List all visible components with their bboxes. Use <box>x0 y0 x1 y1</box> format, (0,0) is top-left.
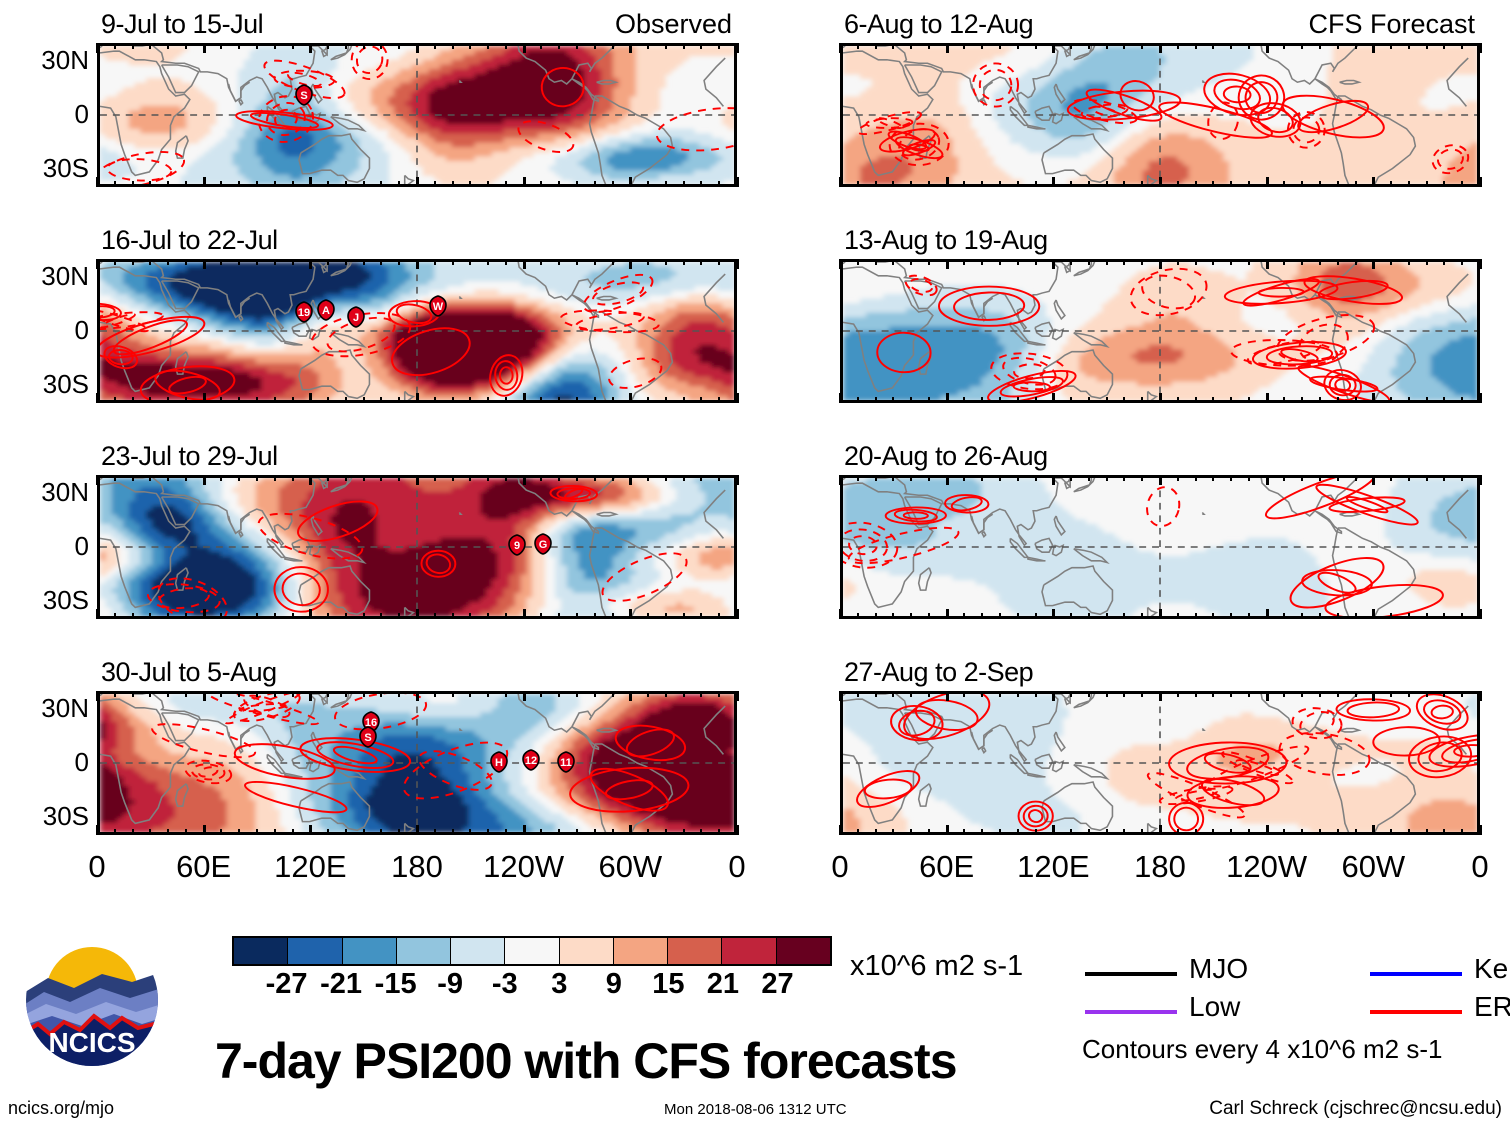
map-field <box>100 262 734 400</box>
axis-tick <box>736 475 739 485</box>
axis-tick <box>875 43 877 49</box>
axis-tick <box>647 691 649 697</box>
axis-tick <box>1355 475 1357 481</box>
storm-marker: J <box>345 306 367 328</box>
axis-tick <box>114 259 116 265</box>
axis-tick <box>292 613 294 619</box>
axis-tick <box>1212 691 1214 697</box>
axis-tick <box>1301 691 1303 697</box>
axis-tick <box>1017 43 1019 49</box>
axis-tick <box>345 43 347 49</box>
axis-tick <box>839 43 842 53</box>
axis-tick <box>256 829 258 835</box>
axis-tick <box>963 181 965 187</box>
panel-title-8: 27-Aug to 2-Sep <box>844 657 1033 688</box>
colorbar-bin-6 <box>560 938 614 964</box>
colorbar-bin-0 <box>234 938 288 964</box>
axis-tick <box>1443 829 1445 835</box>
axis-tick <box>1123 613 1125 619</box>
axis-tick <box>327 613 329 619</box>
axis-tick <box>220 829 222 835</box>
axis-tick <box>576 691 578 697</box>
axis-tick <box>114 829 116 835</box>
x-tick-label: 180 <box>1100 849 1220 885</box>
axis-tick <box>963 43 965 49</box>
axis-tick <box>380 475 382 481</box>
axis-tick <box>1479 825 1482 835</box>
colorbar-bin-7 <box>614 938 668 964</box>
axis-tick <box>1212 181 1214 187</box>
axis-tick <box>1088 181 1090 187</box>
map-panel-2: 19 A J W <box>97 259 737 403</box>
axis-tick <box>1141 43 1143 49</box>
axis-tick <box>238 829 240 835</box>
axis-tick <box>167 397 169 403</box>
contour-interval-note: Contours every 4 x10^6 m2 s-1 <box>1082 1034 1442 1065</box>
axis-tick <box>981 475 983 481</box>
axis-tick <box>114 397 116 403</box>
axis-tick <box>700 829 702 835</box>
axis-tick <box>1461 475 1463 481</box>
axis-tick <box>946 825 949 835</box>
map-field <box>843 262 1477 400</box>
axis-tick <box>1088 43 1090 49</box>
axis-tick <box>1337 181 1339 187</box>
axis-tick <box>594 397 596 403</box>
axis-tick <box>220 691 222 697</box>
axis-tick <box>1035 43 1037 49</box>
axis-tick <box>1070 397 1072 403</box>
axis-tick <box>149 475 151 481</box>
axis-tick <box>1123 397 1125 403</box>
axis-tick <box>1283 613 1285 619</box>
axis-tick <box>594 43 596 49</box>
axis-tick <box>96 825 99 835</box>
axis-tick <box>1052 609 1055 619</box>
axis-tick <box>256 43 258 49</box>
axis-tick <box>1408 829 1410 835</box>
axis-tick <box>292 475 294 481</box>
axis-tick <box>1035 613 1037 619</box>
axis-tick <box>505 829 507 835</box>
colorbar-bin-1 <box>288 938 342 964</box>
axis-tick <box>999 613 1001 619</box>
axis-tick <box>857 397 859 403</box>
axis-tick <box>700 613 702 619</box>
axis-tick <box>700 181 702 187</box>
axis-tick <box>1301 829 1303 835</box>
axis-tick <box>718 475 720 481</box>
axis-tick <box>1177 475 1179 481</box>
axis-tick <box>238 397 240 403</box>
axis-tick <box>1141 691 1143 697</box>
axis-tick <box>309 393 312 403</box>
footer-right: Carl Schreck (cjschrec@ncsu.edu) <box>1209 1098 1502 1120</box>
axis-tick <box>1212 829 1214 835</box>
axis-tick <box>839 609 842 619</box>
axis-tick <box>1177 691 1179 697</box>
axis-tick <box>1426 43 1428 49</box>
axis-tick <box>256 259 258 265</box>
axis-tick <box>910 397 912 403</box>
axis-tick <box>1372 43 1375 53</box>
axis-tick <box>612 259 614 265</box>
axis-tick <box>1177 43 1179 49</box>
y-tick-label: 0 <box>5 747 89 778</box>
axis-tick <box>523 259 526 269</box>
axis-tick <box>700 691 702 697</box>
axis-tick <box>434 43 436 49</box>
axis-tick <box>981 829 983 835</box>
axis-tick <box>167 691 169 697</box>
panel-title-3: 23-Jul to 29-Jul <box>101 441 278 472</box>
storm-marker: W <box>427 295 449 317</box>
storm-marker: 19 <box>293 301 315 323</box>
axis-tick <box>1088 829 1090 835</box>
axis-tick <box>1070 475 1072 481</box>
x-tick-label: 60W <box>570 849 690 885</box>
axis-tick <box>736 691 739 701</box>
axis-tick <box>1230 259 1232 265</box>
axis-tick <box>309 259 312 269</box>
axis-tick <box>149 397 151 403</box>
axis-tick <box>1035 181 1037 187</box>
axis-tick <box>629 691 632 701</box>
axis-tick <box>1301 613 1303 619</box>
x-tick-label: 0 <box>677 849 797 885</box>
axis-tick <box>540 43 542 49</box>
axis-tick <box>185 43 187 49</box>
axis-tick <box>1141 259 1143 265</box>
axis-tick <box>999 259 1001 265</box>
axis-tick <box>892 691 894 697</box>
axis-tick <box>416 825 419 835</box>
axis-tick <box>736 393 739 403</box>
axis-tick <box>1177 397 1179 403</box>
axis-tick <box>1052 475 1055 485</box>
axis-tick <box>1266 177 1269 187</box>
colorbar-bin-3 <box>397 938 451 964</box>
axis-tick <box>1088 613 1090 619</box>
axis-tick <box>629 177 632 187</box>
footer-left[interactable]: ncics.org/mjo <box>8 1098 114 1119</box>
y-tick-label: 30S <box>5 801 89 832</box>
axis-tick <box>1088 397 1090 403</box>
axis-tick <box>1212 43 1214 49</box>
axis-tick <box>910 613 912 619</box>
axis-tick <box>416 475 419 485</box>
legend-line-kelvin-x2 <box>1370 972 1462 976</box>
axis-tick <box>398 691 400 697</box>
axis-tick <box>1426 613 1428 619</box>
axis-tick <box>220 613 222 619</box>
panel-title-7: 20-Aug to 26-Aug <box>844 441 1048 472</box>
axis-tick <box>505 43 507 49</box>
axis-tick <box>576 829 578 835</box>
axis-tick <box>963 829 965 835</box>
axis-tick <box>398 613 400 619</box>
axis-tick <box>736 609 739 619</box>
axis-tick <box>505 181 507 187</box>
axis-tick <box>558 829 560 835</box>
axis-tick <box>114 181 116 187</box>
axis-tick <box>363 181 365 187</box>
axis-tick <box>981 397 983 403</box>
axis-tick <box>1106 829 1108 835</box>
legend-line-er <box>1370 1010 1462 1014</box>
axis-tick <box>1408 613 1410 619</box>
x-tick-label: 120W <box>464 849 584 885</box>
map-field <box>100 478 734 616</box>
axis-tick <box>665 475 667 481</box>
axis-tick <box>839 825 842 835</box>
axis-tick <box>1408 43 1410 49</box>
axis-tick <box>665 691 667 697</box>
axis-tick <box>1195 181 1197 187</box>
axis-tick <box>1159 393 1162 403</box>
axis-tick <box>452 613 454 619</box>
axis-tick <box>1372 609 1375 619</box>
axis-tick <box>434 475 436 481</box>
axis-tick <box>1355 829 1357 835</box>
axis-tick <box>380 259 382 265</box>
axis-tick <box>434 397 436 403</box>
axis-tick <box>327 691 329 697</box>
axis-tick <box>629 259 632 269</box>
axis-tick <box>1177 613 1179 619</box>
axis-tick <box>1461 397 1463 403</box>
axis-tick <box>665 397 667 403</box>
storm-marker: A <box>315 299 337 321</box>
axis-tick <box>1461 43 1463 49</box>
axis-tick <box>839 177 842 187</box>
map-field <box>843 478 1477 616</box>
axis-tick <box>1159 825 1162 835</box>
axis-tick <box>629 609 632 619</box>
axis-tick <box>1372 825 1375 835</box>
axis-tick <box>700 259 702 265</box>
axis-tick <box>487 43 489 49</box>
axis-tick <box>558 259 560 265</box>
axis-tick <box>398 259 400 265</box>
y-tick-label: 0 <box>5 315 89 346</box>
axis-tick <box>203 691 206 701</box>
axis-tick <box>665 259 667 265</box>
axis-tick <box>1212 475 1214 481</box>
axis-tick <box>629 393 632 403</box>
axis-tick <box>718 691 720 697</box>
axis-tick <box>132 613 134 619</box>
axis-tick <box>946 393 949 403</box>
axis-tick <box>576 181 578 187</box>
axis-tick <box>363 397 365 403</box>
axis-tick <box>1319 259 1321 265</box>
axis-tick <box>1266 609 1269 619</box>
axis-tick <box>203 825 206 835</box>
axis-tick <box>220 181 222 187</box>
axis-tick <box>292 829 294 835</box>
axis-tick <box>149 43 151 49</box>
axis-tick <box>1266 393 1269 403</box>
colorbar-bin-8 <box>668 938 722 964</box>
axis-tick <box>594 613 596 619</box>
map-field <box>100 46 734 184</box>
axis-tick <box>1123 181 1125 187</box>
axis-tick <box>1372 475 1375 485</box>
page-title: 7-day PSI200 with CFS forecasts <box>215 1032 957 1090</box>
axis-tick <box>1426 259 1428 265</box>
axis-tick <box>981 691 983 697</box>
axis-tick <box>469 43 471 49</box>
axis-tick <box>434 613 436 619</box>
axis-tick <box>683 259 685 265</box>
axis-tick <box>963 691 965 697</box>
footer-timestamp: Mon 2018-08-06 1312 UTC <box>664 1101 847 1118</box>
axis-tick <box>114 43 116 49</box>
map-panel-4: 16 S H 12 11 <box>97 691 737 835</box>
axis-tick <box>1319 181 1321 187</box>
axis-tick <box>736 825 739 835</box>
axis-tick <box>256 397 258 403</box>
legend-line-low <box>1085 1010 1177 1014</box>
axis-tick <box>345 613 347 619</box>
axis-tick <box>238 475 240 481</box>
axis-tick <box>1390 43 1392 49</box>
axis-tick <box>1070 43 1072 49</box>
axis-tick <box>875 259 877 265</box>
axis-tick <box>910 829 912 835</box>
axis-tick <box>274 829 276 835</box>
axis-tick <box>1017 397 1019 403</box>
axis-tick <box>469 259 471 265</box>
axis-tick <box>523 609 526 619</box>
axis-tick <box>274 43 276 49</box>
panel-title-2: 16-Jul to 22-Jul <box>101 225 278 256</box>
axis-tick <box>892 613 894 619</box>
axis-tick <box>1195 259 1197 265</box>
axis-tick <box>612 829 614 835</box>
axis-tick <box>185 397 187 403</box>
axis-tick <box>981 613 983 619</box>
axis-tick <box>1355 691 1357 697</box>
axis-tick <box>540 259 542 265</box>
axis-tick <box>1301 475 1303 481</box>
axis-tick <box>1106 181 1108 187</box>
axis-tick <box>700 43 702 49</box>
axis-tick <box>1443 475 1445 481</box>
axis-tick <box>185 259 187 265</box>
axis-tick <box>928 475 930 481</box>
axis-tick <box>1248 259 1250 265</box>
axis-tick <box>594 181 596 187</box>
storm-marker: H <box>488 751 510 773</box>
axis-tick <box>114 475 116 481</box>
axis-tick <box>1052 43 1055 53</box>
y-tick-label: 0 <box>5 99 89 130</box>
axis-tick <box>1390 829 1392 835</box>
axis-tick <box>1070 613 1072 619</box>
axis-tick <box>910 259 912 265</box>
axis-tick <box>1461 829 1463 835</box>
axis-tick <box>203 393 206 403</box>
x-tick-label: 60E <box>887 849 1007 885</box>
axis-tick <box>167 475 169 481</box>
axis-tick <box>1337 613 1339 619</box>
axis-tick <box>718 397 720 403</box>
axis-tick <box>523 43 526 53</box>
map-panel-5 <box>840 43 1480 187</box>
axis-tick <box>523 393 526 403</box>
axis-tick <box>999 475 1001 481</box>
axis-tick <box>345 397 347 403</box>
axis-tick <box>363 259 365 265</box>
axis-tick <box>167 829 169 835</box>
axis-tick <box>999 691 1001 697</box>
axis-tick <box>1177 829 1179 835</box>
axis-tick <box>1248 829 1250 835</box>
axis-tick <box>452 829 454 835</box>
axis-tick <box>1248 475 1250 481</box>
axis-tick <box>1070 259 1072 265</box>
colorbar-bin-2 <box>343 938 397 964</box>
axis-tick <box>132 397 134 403</box>
axis-tick <box>1195 613 1197 619</box>
axis-tick <box>1408 181 1410 187</box>
axis-tick <box>558 613 560 619</box>
axis-tick <box>910 475 912 481</box>
axis-tick <box>1319 613 1321 619</box>
axis-tick <box>1035 691 1037 697</box>
axis-tick <box>910 43 912 49</box>
map-panel-3: 9 G <box>97 475 737 619</box>
axis-tick <box>398 475 400 481</box>
axis-tick <box>274 475 276 481</box>
axis-tick <box>1230 475 1232 481</box>
axis-tick <box>380 829 382 835</box>
axis-tick <box>875 829 877 835</box>
axis-tick <box>1408 475 1410 481</box>
legend-label-low: Low <box>1189 991 1240 1023</box>
axis-tick <box>274 691 276 697</box>
axis-tick <box>292 259 294 265</box>
axis-tick <box>612 613 614 619</box>
axis-tick <box>683 475 685 481</box>
logo-text: NCICS <box>48 1027 135 1058</box>
axis-tick <box>1248 613 1250 619</box>
axis-tick <box>345 691 347 697</box>
y-tick-label: 30N <box>5 477 89 508</box>
axis-tick <box>558 181 560 187</box>
axis-tick <box>469 475 471 481</box>
axis-tick <box>1337 475 1339 481</box>
axis-tick <box>1159 43 1162 53</box>
axis-tick <box>718 181 720 187</box>
axis-tick <box>1355 613 1357 619</box>
x-tick-label: 60W <box>1313 849 1433 885</box>
axis-tick <box>416 609 419 619</box>
axis-tick <box>1123 475 1125 481</box>
storm-marker: 9 <box>506 534 528 556</box>
axis-tick <box>629 475 632 485</box>
axis-tick <box>167 43 169 49</box>
axis-tick <box>1159 691 1162 701</box>
axis-tick <box>220 259 222 265</box>
axis-tick <box>612 181 614 187</box>
axis-tick <box>327 181 329 187</box>
axis-tick <box>981 43 983 49</box>
axis-tick <box>1408 691 1410 697</box>
axis-tick <box>523 691 526 701</box>
